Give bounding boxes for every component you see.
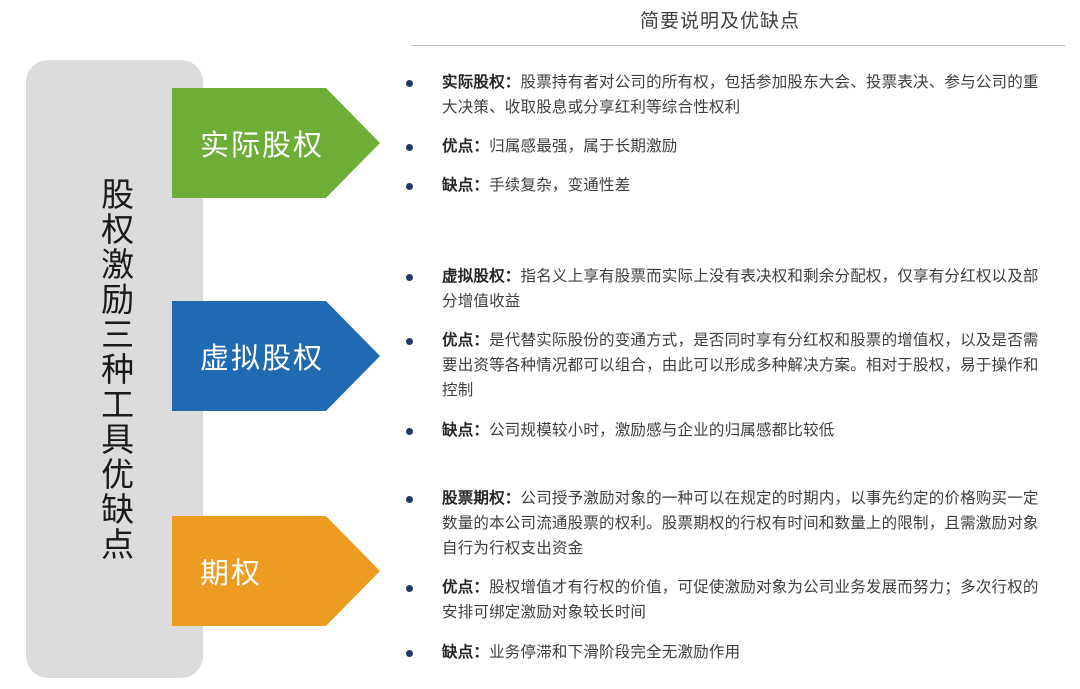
- bullet-dot-icon: [406, 183, 413, 190]
- bullet-dot-icon: [406, 274, 413, 281]
- arrow-label-actual-equity: 实际股权: [200, 122, 324, 164]
- bullet-lead: 缺点：: [442, 643, 489, 661]
- bullet-body: 手续复杂，变通性差: [489, 176, 630, 194]
- bullet-body: 业务停滞和下滑阶段完全无激励作用: [489, 643, 740, 661]
- bullet-text: 缺点：公司规模较小时，激励感与企业的归属感都比较低: [442, 418, 1042, 443]
- bullet-lead: 优点：: [442, 331, 489, 349]
- bullet-group-actual-equity: 实际股权：股票持有者对公司的所有权，包括参加股东大会、投票表决、参与公司的重大决…: [400, 70, 1065, 212]
- bullet-dot-icon: [406, 585, 413, 592]
- bullet-lead: 优点：: [442, 137, 489, 155]
- bullet-body: 股票持有者对公司的所有权，包括参加股东大会、投票表决、参与公司的重大决策、收取股…: [442, 73, 1039, 116]
- content-column: 简要说明及优缺点 实际股权：股票持有者对公司的所有权，包括参加股东大会、投票表决…: [400, 0, 1065, 689]
- bullet-text: 优点：股权增值才有行权的价值，可促使激励对象为公司业务发展而努力；多次行权的安排…: [442, 575, 1042, 625]
- list-item: 缺点：手续复杂，变通性差: [400, 173, 1065, 198]
- bullet-text: 股票期权：公司授予激励对象的一种可以在规定的时期内，以事先约定的价格购买一定数量…: [442, 486, 1042, 561]
- bullet-text: 实际股权：股票持有者对公司的所有权，包括参加股东大会、投票表决、参与公司的重大决…: [442, 70, 1042, 120]
- bullet-dot-icon: [406, 338, 413, 345]
- bullet-dot-icon: [406, 144, 413, 151]
- bullet-text: 优点：是代替实际股份的变通方式，是否同时享有分红权和股票的增值权，以及是否需要出…: [442, 328, 1042, 403]
- bullet-text: 优点：归属感最强，属于长期激励: [442, 134, 1042, 159]
- list-item: 优点：是代替实际股份的变通方式，是否同时享有分红权和股票的增值权，以及是否需要出…: [400, 328, 1065, 403]
- list-item: 优点：归属感最强，属于长期激励: [400, 134, 1065, 159]
- bullet-text: 虚拟股权：指名义上享有股票而实际上没有表决权和剩余分配权，仅享有分红权以及部分增…: [442, 264, 1042, 314]
- bullet-group-stock-option: 股票期权：公司授予激励对象的一种可以在规定的时期内，以事先约定的价格购买一定数量…: [400, 486, 1065, 679]
- arrow-label-stock-option: 期权: [200, 550, 262, 592]
- list-item: 缺点：业务停滞和下滑阶段完全无激励作用: [400, 640, 1065, 665]
- bullet-body: 公司规模较小时，激励感与企业的归属感都比较低: [489, 421, 834, 439]
- bullet-lead: 缺点：: [442, 421, 489, 439]
- bullet-body: 股权增值才有行权的价值，可促使激励对象为公司业务发展而努力；多次行权的安排可绑定…: [442, 578, 1039, 621]
- bullet-body: 指名义上享有股票而实际上没有表决权和剩余分配权，仅享有分红权以及部分增值收益: [442, 267, 1039, 310]
- list-item: 优点：股权增值才有行权的价值，可促使激励对象为公司业务发展而努力；多次行权的安排…: [400, 575, 1065, 625]
- arrow-stock-option[interactable]: 期权: [172, 516, 380, 626]
- list-item: 股票期权：公司授予激励对象的一种可以在规定的时期内，以事先约定的价格购买一定数量…: [400, 486, 1065, 561]
- content-title: 简要说明及优缺点: [400, 6, 1040, 33]
- arrow-label-virtual-equity: 虚拟股权: [200, 335, 324, 377]
- content-divider: [412, 45, 1065, 46]
- arrow-actual-equity[interactable]: 实际股权: [172, 88, 380, 198]
- bullet-text: 缺点：业务停滞和下滑阶段完全无激励作用: [442, 640, 1042, 665]
- bullet-lead: 股票期权：: [442, 489, 521, 507]
- arrow-virtual-equity[interactable]: 虚拟股权: [172, 301, 380, 411]
- list-item: 缺点：公司规模较小时，激励感与企业的归属感都比较低: [400, 418, 1065, 443]
- bullet-dot-icon: [406, 80, 413, 87]
- bullet-lead: 缺点：: [442, 176, 489, 194]
- list-item: 实际股权：股票持有者对公司的所有权，包括参加股东大会、投票表决、参与公司的重大决…: [400, 70, 1065, 120]
- bullet-lead: 实际股权：: [442, 73, 521, 91]
- bullet-body: 归属感最强，属于长期激励: [489, 137, 677, 155]
- bullet-group-virtual-equity: 虚拟股权：指名义上享有股票而实际上没有表决权和剩余分配权，仅享有分红权以及部分增…: [400, 264, 1065, 457]
- bullet-dot-icon: [406, 428, 413, 435]
- bullet-body: 是代替实际股份的变通方式，是否同时享有分红权和股票的增值权，以及是否需要出资等各…: [442, 331, 1039, 399]
- bullet-text: 缺点：手续复杂，变通性差: [442, 173, 1042, 198]
- bullet-lead: 虚拟股权：: [442, 267, 521, 285]
- bullet-dot-icon: [406, 650, 413, 657]
- bullet-dot-icon: [406, 496, 413, 503]
- list-item: 虚拟股权：指名义上享有股票而实际上没有表决权和剩余分配权，仅享有分红权以及部分增…: [400, 264, 1065, 314]
- bullet-lead: 优点：: [442, 578, 489, 596]
- bullet-body: 公司授予激励对象的一种可以在规定的时期内，以事先约定的价格购买一定数量的本公司流…: [442, 489, 1039, 557]
